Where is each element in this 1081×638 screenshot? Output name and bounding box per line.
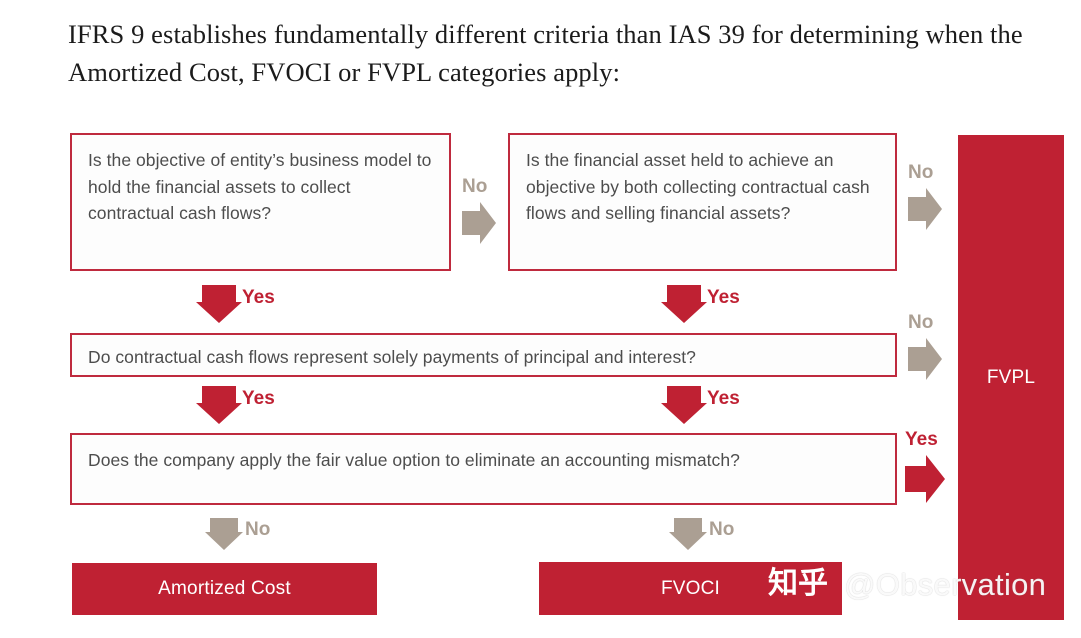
result-box-fvpl: FVPL <box>958 135 1064 620</box>
question-box-sppi: Do contractual cash flows represent sole… <box>70 333 897 377</box>
flowchart-canvas: IFRS 9 establishes fundamentally differe… <box>0 0 1081 638</box>
arrow-no-fair-value-option-to-amortized-cost: No <box>205 518 243 550</box>
arrow-down-icon <box>205 518 243 550</box>
arrow-label-no: No <box>709 520 734 539</box>
arrow-down-icon <box>196 285 242 323</box>
question-box-business-model: Is the objective of entity’s business mo… <box>70 133 451 271</box>
arrow-right-icon <box>908 187 942 231</box>
arrow-no-fair-value-option-to-fvoci: No <box>669 518 707 550</box>
arrow-label-no: No <box>245 520 270 539</box>
arrow-yes-sppi-to-fair-value-option-right: Yes <box>661 386 707 424</box>
arrow-yes-both-objective-to-sppi: Yes <box>661 285 707 323</box>
question-box-fair-value-option: Does the company apply the fair value op… <box>70 433 897 505</box>
arrow-yes-business-model-to-sppi: Yes <box>196 285 242 323</box>
arrow-label-yes: Yes <box>905 430 938 449</box>
arrow-down-icon <box>196 386 242 424</box>
arrow-down-icon <box>669 518 707 550</box>
arrow-right-icon <box>908 337 942 381</box>
arrow-right-icon <box>462 201 496 245</box>
arrow-down-icon <box>661 285 707 323</box>
arrow-label-yes: Yes <box>242 288 275 307</box>
arrow-label-yes: Yes <box>707 288 740 307</box>
result-box-amortized-cost: Amortized Cost <box>72 563 377 615</box>
question-box-both-objective: Is the financial asset held to achieve a… <box>508 133 897 271</box>
arrow-right-icon <box>905 454 945 504</box>
arrow-yes-sppi-to-fair-value-option-left: Yes <box>196 386 242 424</box>
arrow-label-no: No <box>908 313 933 332</box>
arrow-label-no: No <box>908 163 933 182</box>
result-box-fvoci: FVOCI <box>539 562 842 615</box>
arrow-label-no: No <box>462 177 487 196</box>
arrow-down-icon <box>661 386 707 424</box>
arrow-label-yes: Yes <box>707 389 740 408</box>
arrow-label-yes: Yes <box>242 389 275 408</box>
page-title: IFRS 9 establishes fundamentally differe… <box>68 16 1068 91</box>
